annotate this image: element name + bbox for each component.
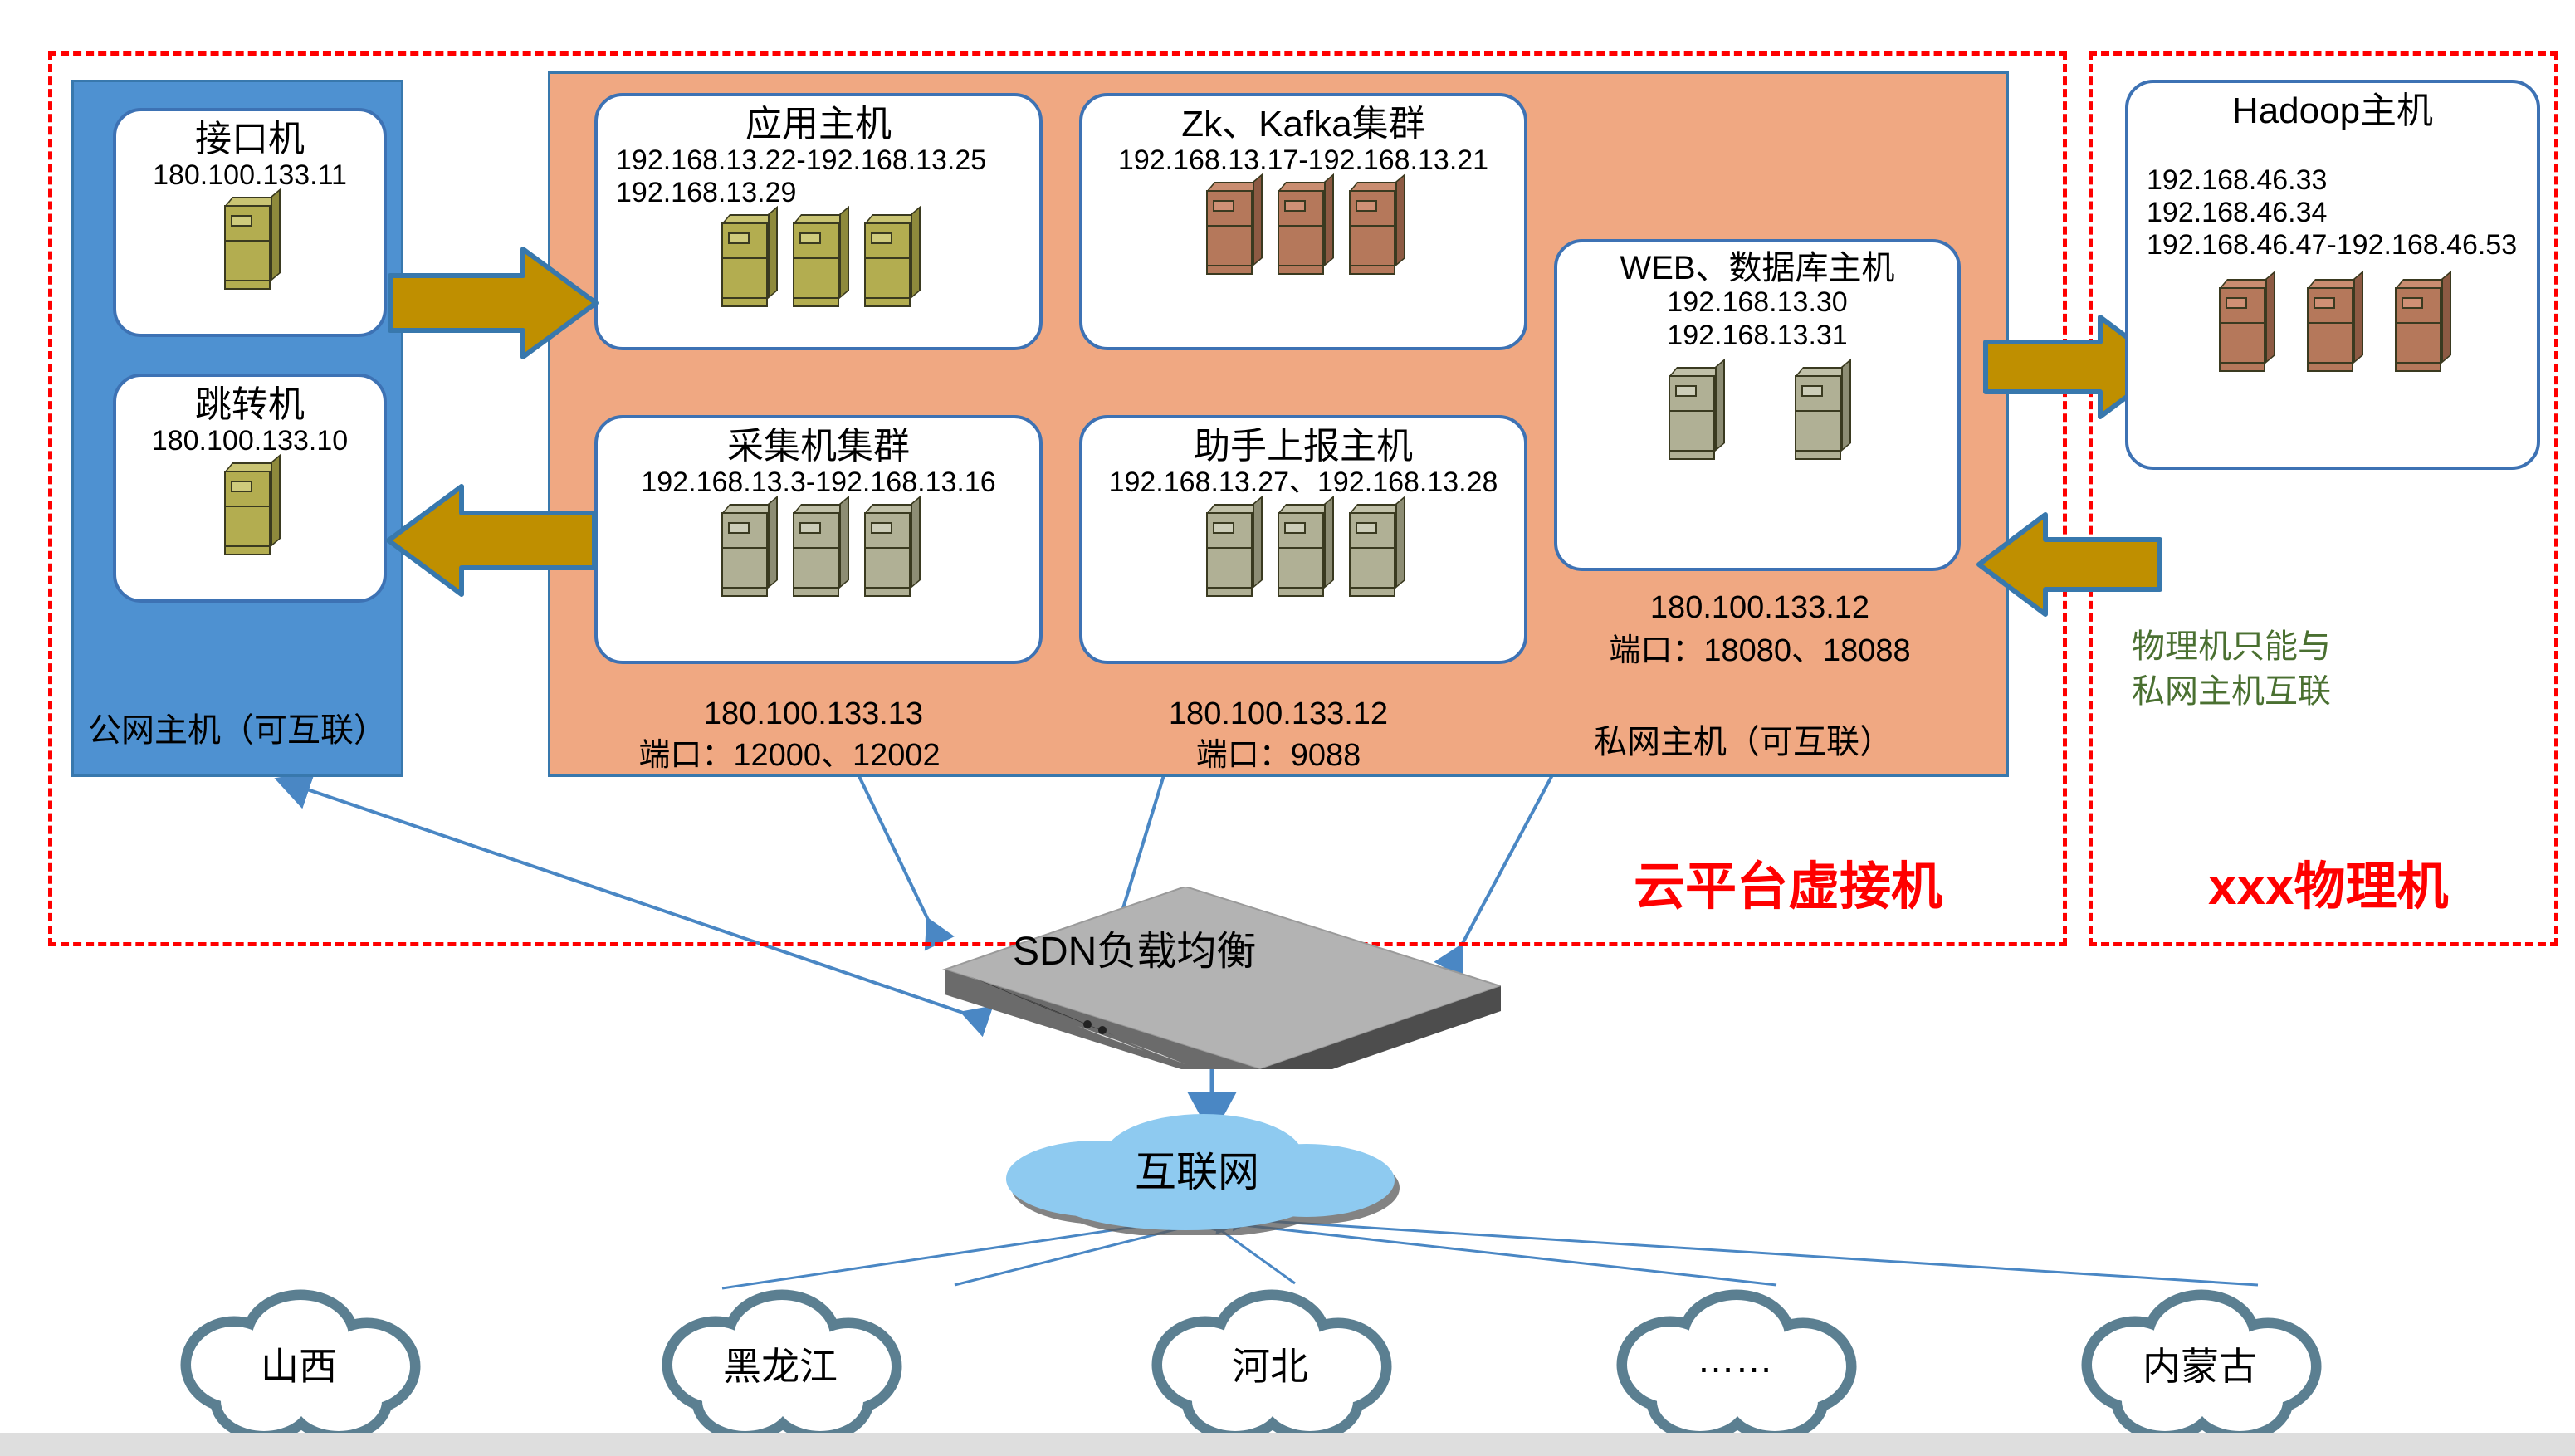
server-tower-icon [1206, 182, 1258, 275]
province-label: 河北 [1146, 1336, 1395, 1391]
endpoint-ports-assistant: 端口：9088 [1104, 737, 1453, 775]
sdn-label: SDN负载均衡 [1013, 918, 1256, 976]
server-tower-icon [1206, 504, 1258, 597]
endpoint-ports-webdb: 端口：18080、18088 [1552, 633, 1967, 671]
host-title: Hadoop主机 [2232, 91, 2433, 131]
host-ip: 192.168.13.30 [1667, 286, 1847, 319]
province-label: …… [1610, 1336, 1859, 1381]
host-ip: 192.168.46.34 [2147, 197, 2327, 229]
server-tower-icon [1278, 182, 1329, 275]
host-title: 采集机集群 [727, 427, 910, 467]
private-zone-label: 私网主机（可互联） [1594, 722, 1893, 762]
physical-zone-note: 物理机只能与 私网主机互联 [2132, 624, 2331, 714]
server-icons [2219, 279, 2446, 372]
host-title: 助手上报主机 [1194, 427, 1413, 467]
province-cloud-hebei[interactable]: 河北 [1146, 1285, 1395, 1443]
host-title: 应用主机 [745, 105, 892, 144]
province-cloud-heilongjiang[interactable]: 黑龙江 [656, 1285, 905, 1443]
server-tower-icon [224, 462, 276, 555]
server-tower-icon [1349, 182, 1400, 275]
host-ip: 192.168.46.47-192.168.46.53 [2147, 229, 2517, 261]
server-icons [1206, 182, 1400, 275]
arrow-public-to-private [390, 249, 598, 357]
endpoint-ip-collector: 180.100.133.13 [639, 696, 988, 734]
server-tower-icon [864, 214, 916, 307]
host-ip: 192.168.13.17-192.168.13.21 [1118, 144, 1488, 177]
sdn-load-balancer[interactable]: SDN负载均衡 [936, 887, 1501, 1073]
host-card-app[interactable]: 应用主机 192.168.13.22-192.168.13.25 192.168… [594, 93, 1043, 350]
host-title: Zk、Kafka集群 [1181, 105, 1424, 144]
server-tower-icon [2395, 279, 2446, 372]
server-tower-icon [2219, 279, 2270, 372]
host-card-collector-cluster[interactable]: 采集机集群 192.168.13.3-192.168.13.16 [594, 415, 1043, 664]
server-icons [1206, 504, 1400, 597]
region-label-cloud-platform: 云平台虚接机 [1634, 857, 1942, 918]
host-ip: 192.168.46.33 [2147, 164, 2327, 197]
server-tower-icon [1349, 504, 1400, 597]
endpoint-ports-collector: 端口：12000、12002 [594, 737, 985, 775]
host-card-zk-kafka[interactable]: Zk、Kafka集群 192.168.13.17-192.168.13.21 [1079, 93, 1527, 350]
host-title: 接口机 [195, 120, 305, 159]
endpoint-ip-webdb: 180.100.133.12 [1577, 589, 1942, 628]
server-tower-icon [793, 214, 844, 307]
server-tower-icon [224, 197, 276, 290]
host-card-hadoop[interactable]: Hadoop主机 192.168.46.33 192.168.46.34 192… [2125, 80, 2540, 470]
server-tower-icon [2307, 279, 2358, 372]
server-icons [224, 462, 276, 555]
server-icons [721, 504, 916, 597]
server-icons [1669, 367, 1846, 460]
province-cloud-shanxi[interactable]: 山西 [174, 1285, 423, 1443]
server-tower-icon [1278, 504, 1329, 597]
server-tower-icon [721, 214, 773, 307]
province-cloud-ellipsis[interactable]: …… [1610, 1285, 1859, 1443]
host-ip: 192.168.13.29 [616, 177, 796, 209]
server-tower-icon [1795, 367, 1846, 460]
province-label: 内蒙古 [2075, 1336, 2324, 1391]
host-card-assistant-report[interactable]: 助手上报主机 192.168.13.27、192.168.13.28 [1079, 415, 1527, 664]
province-label: 黑龙江 [656, 1336, 905, 1391]
province-label: 山西 [174, 1336, 423, 1391]
host-ip: 180.100.133.10 [152, 425, 348, 457]
province-cloud-inner-mongolia[interactable]: 内蒙古 [2075, 1285, 2324, 1443]
host-title: WEB、数据库主机 [1620, 251, 1894, 286]
host-ip: 192.168.13.27、192.168.13.28 [1109, 467, 1498, 499]
internet-label: 互联网 [981, 1139, 1413, 1199]
bottom-bar [0, 1433, 2575, 1456]
server-tower-icon [721, 504, 773, 597]
server-icons [224, 197, 276, 290]
server-tower-icon [864, 504, 916, 597]
arrow-physical-to-private [1977, 515, 2160, 614]
host-card-interface-machine[interactable]: 接口机 180.100.133.11 [113, 108, 387, 337]
server-tower-icon [1669, 367, 1720, 460]
server-tower-icon [793, 504, 844, 597]
host-ip: 192.168.13.3-192.168.13.16 [641, 467, 995, 499]
server-icons [721, 214, 916, 307]
arrow-private-to-public [387, 486, 594, 594]
host-title: 跳转机 [195, 385, 305, 425]
region-label-physical: xxx物理机 [2208, 857, 2448, 918]
host-ip: 180.100.133.11 [153, 159, 347, 192]
public-zone-label: 公网主机（可互联） [88, 711, 387, 750]
host-ip: 192.168.13.22-192.168.13.25 [616, 144, 986, 177]
host-card-jump-machine[interactable]: 跳转机 180.100.133.10 [113, 374, 387, 603]
host-card-web-database[interactable]: WEB、数据库主机 192.168.13.30 192.168.13.31 [1554, 239, 1961, 571]
endpoint-ip-assistant: 180.100.133.12 [1104, 696, 1453, 734]
internet-cloud[interactable]: 互联网 [981, 1111, 1413, 1235]
host-ip: 192.168.13.31 [1667, 320, 1847, 352]
